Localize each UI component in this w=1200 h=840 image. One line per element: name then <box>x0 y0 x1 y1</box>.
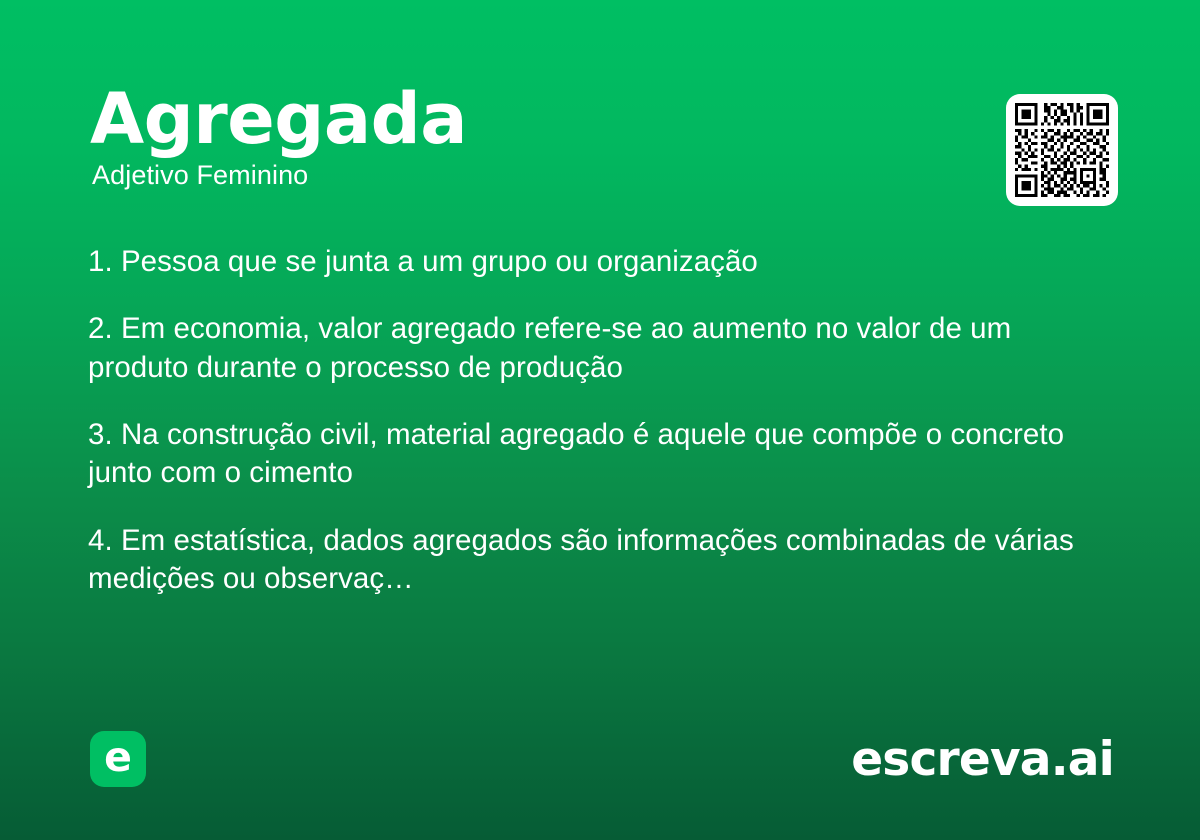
logo-letter: e <box>104 737 132 778</box>
dictionary-card: Agregada Adjetivo Feminino <box>0 0 1200 840</box>
definition-list: 1. Pessoa que se junta a um grupo ou org… <box>88 243 1108 598</box>
definition-item-2: 2. Em economia, valor agregado refere-se… <box>88 310 1108 387</box>
qr-code[interactable] <box>1006 94 1118 206</box>
card-footer: e escreva.ai <box>90 730 1114 788</box>
word-class-label: Adjetivo Feminino <box>92 161 1110 191</box>
page-title: Agregada <box>90 86 1110 153</box>
card-header: Agregada Adjetivo Feminino <box>90 86 1110 216</box>
definition-item-4: 4. Em estatística, dados agregados são i… <box>88 522 1108 599</box>
definition-item-3: 3. Na construção civil, material agregad… <box>88 416 1108 493</box>
escreva-logo-icon[interactable]: e <box>90 731 146 787</box>
definition-item-1: 1. Pessoa que se junta a um grupo ou org… <box>88 243 1108 281</box>
brand-wordmark: escreva.ai <box>851 736 1114 783</box>
qr-code-icon <box>1015 103 1109 197</box>
